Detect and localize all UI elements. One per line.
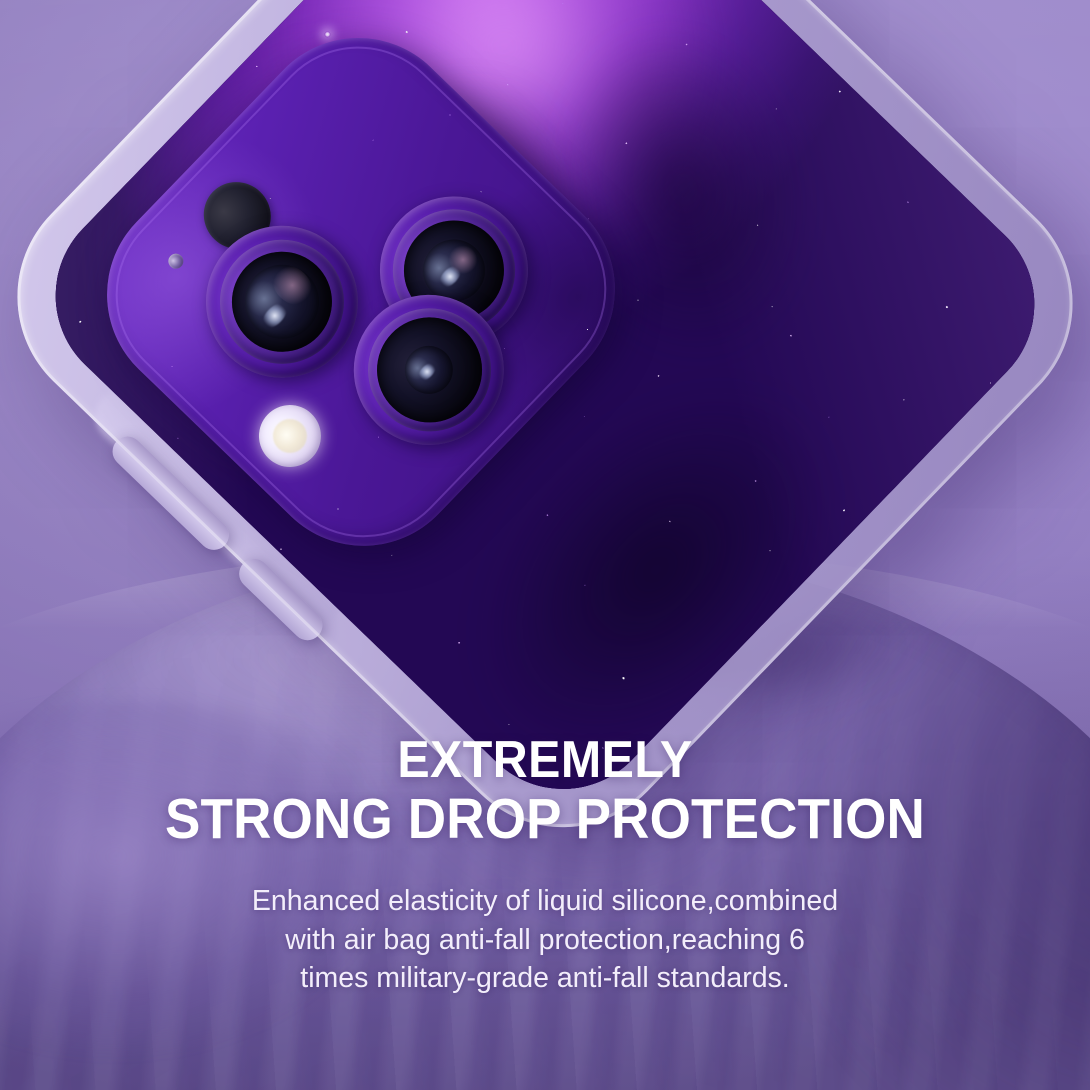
body-copy: Enhanced elasticity of liquid silicone,c… bbox=[185, 882, 905, 998]
headline: EXTREMELY STRONG DROP PROTECTION bbox=[38, 735, 1052, 848]
body-copy-line-1: Enhanced elasticity of liquid silicone,c… bbox=[185, 882, 905, 921]
led-flash-core bbox=[265, 411, 314, 460]
lens-glass bbox=[355, 296, 503, 444]
marketing-copy: EXTREMELY STRONG DROP PROTECTION Enhance… bbox=[0, 735, 1090, 998]
headline-line-1: EXTREMELY bbox=[397, 731, 692, 789]
product-marketing-image: DUO CAMERA bbox=[0, 0, 1090, 1090]
lens-glass bbox=[211, 231, 353, 373]
body-copy-line-2: with air bag anti-fall protection,reachi… bbox=[185, 921, 905, 960]
headline-line-2: STRONG DROP PROTECTION bbox=[38, 792, 1052, 848]
body-copy-line-3: times military-grade anti-fall standards… bbox=[185, 959, 905, 998]
